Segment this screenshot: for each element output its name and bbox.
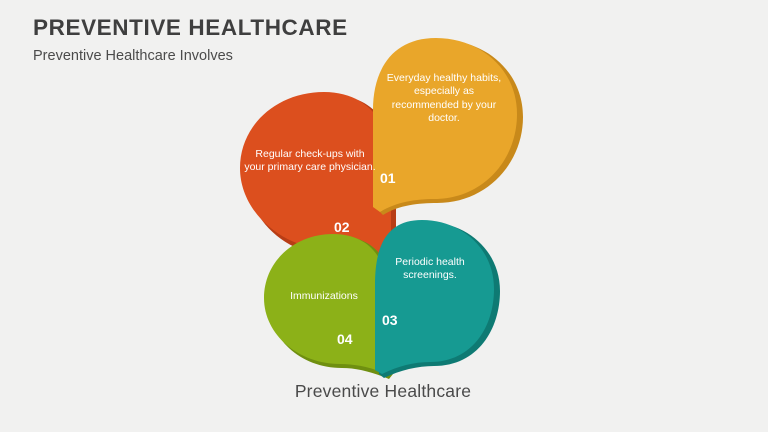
petal-03-body bbox=[375, 220, 494, 374]
petal-04-green[interactable] bbox=[264, 234, 393, 379]
slide-canvas: PREVENTIVE HEALTHCARE Preventive Healthc… bbox=[0, 0, 768, 432]
petal-03-teal[interactable] bbox=[375, 220, 500, 378]
petal-04-body bbox=[264, 234, 388, 374]
petal-01-orange[interactable] bbox=[373, 38, 523, 215]
diagram-caption-text: Preventive Healthcare bbox=[295, 381, 471, 402]
petal-diagram bbox=[0, 0, 768, 432]
diagram-caption: Preventive Healthcare bbox=[0, 381, 768, 402]
petal-01-body bbox=[373, 38, 517, 212]
